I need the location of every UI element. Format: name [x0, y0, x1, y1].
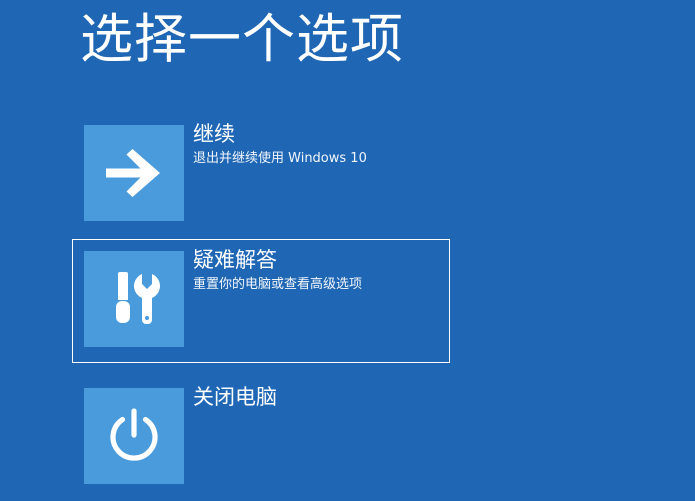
option-shutdown-tile — [84, 388, 184, 484]
option-troubleshoot-subtitle: 重置你的电脑或查看高级选项 — [193, 275, 445, 294]
option-continue[interactable]: 继续 退出并继续使用 Windows 10 — [72, 113, 450, 237]
option-continue-tile — [84, 125, 184, 221]
option-continue-title: 继续 — [193, 119, 445, 149]
choose-an-option-screen: 选择一个选项 继续 退出并继续使用 Windows 10 — [0, 0, 695, 501]
option-shutdown-title: 关闭电脑 — [193, 382, 445, 412]
option-shutdown-text: 关闭电脑 — [193, 382, 445, 412]
option-troubleshoot[interactable]: 疑难解答 重置你的电脑或查看高级选项 — [72, 239, 450, 363]
option-shutdown[interactable]: 关闭电脑 — [72, 376, 450, 501]
power-icon — [105, 407, 163, 465]
option-troubleshoot-text: 疑难解答 重置你的电脑或查看高级选项 — [193, 245, 445, 294]
page-title: 选择一个选项 — [80, 8, 404, 72]
option-troubleshoot-title: 疑难解答 — [193, 245, 445, 275]
arrow-right-icon — [104, 147, 164, 199]
option-troubleshoot-tile — [84, 251, 184, 347]
option-continue-text: 继续 退出并继续使用 Windows 10 — [193, 119, 445, 168]
screwdriver-wrench-icon — [108, 270, 160, 328]
option-continue-subtitle: 退出并继续使用 Windows 10 — [193, 149, 445, 168]
